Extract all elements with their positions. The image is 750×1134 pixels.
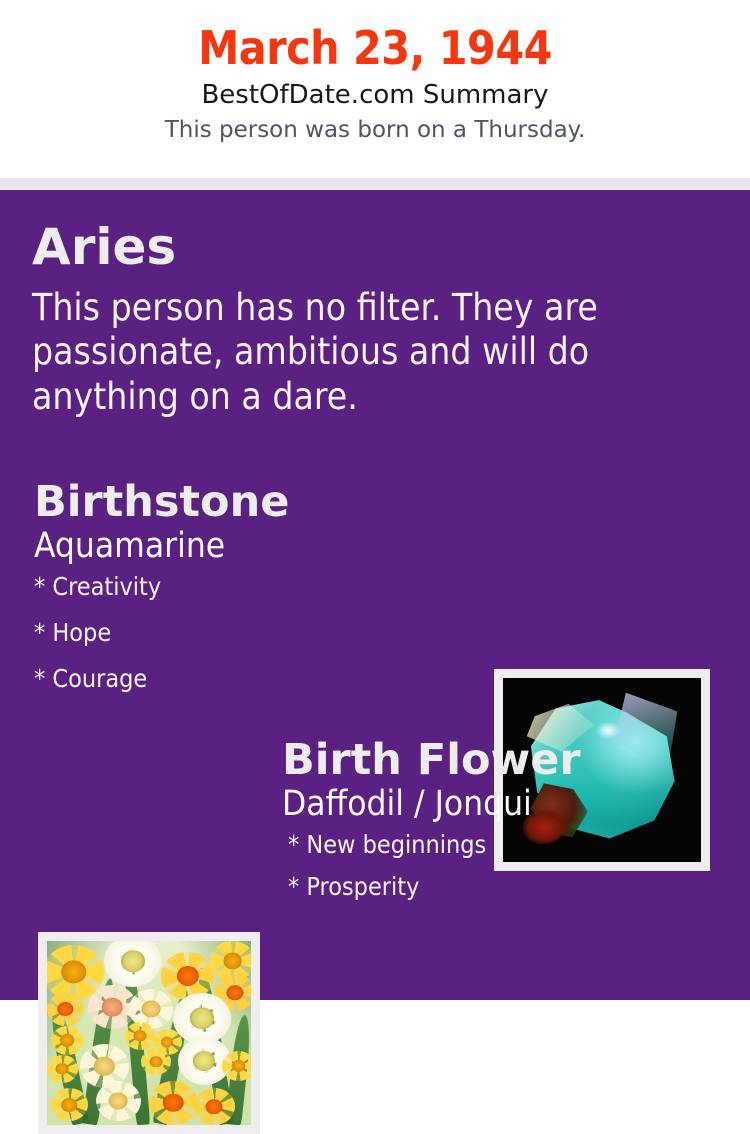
birth-flower-section: Birth Flower Daffodil / Jonqui * New beg…: [282, 738, 722, 916]
weekday-statement: This person was born on a Thursday.: [0, 117, 750, 143]
birthstone-name: Aquamarine: [34, 527, 464, 566]
birth-flower-image: [47, 941, 251, 1125]
summary-card: March 23, 1944 BestOfDate.com Summary Th…: [0, 0, 750, 1000]
list-item: * Creativity: [34, 574, 464, 599]
daffodil-bloom-icon: [96, 1081, 141, 1121]
zodiac-section: Aries This person has no filter. They ar…: [32, 222, 662, 419]
daffodil-bloom-icon: [104, 941, 161, 987]
list-item: * Courage: [34, 666, 464, 691]
daffodil-bloom-icon: [47, 993, 84, 1026]
card-header: March 23, 1944 BestOfDate.com Summary Th…: [0, 0, 750, 178]
header-divider: [0, 178, 750, 190]
content-panel: Aries This person has no filter. They ar…: [0, 190, 750, 1000]
zodiac-sign-name: Aries: [32, 222, 662, 272]
site-summary-label: BestOfDate.com Summary: [0, 81, 750, 111]
birth-flower-heading: Birth Flower: [282, 738, 722, 783]
birth-flower-trait-list: * New beginnings * Prosperity: [282, 832, 722, 899]
daffodil-bloom-icon: [149, 1081, 198, 1125]
birthstone-heading: Birthstone: [34, 480, 464, 525]
daffodil-bloom-icon: [51, 1088, 88, 1121]
list-item: * New beginnings: [288, 832, 722, 857]
zodiac-description: This person has no filter. They are pass…: [32, 286, 652, 419]
daffodil-bloom-icon: [51, 1026, 84, 1055]
daffodil-bloom-icon: [47, 1055, 78, 1083]
birthstone-trait-list: * Creativity * Hope * Courage: [34, 574, 464, 691]
birthstone-section: Birthstone Aquamarine * Creativity * Hop…: [34, 480, 464, 712]
birth-flower-name: Daffodil / Jonqui: [282, 785, 722, 824]
daffodil-bloom-icon: [125, 1022, 156, 1050]
list-item: * Hope: [34, 620, 464, 645]
crystal-highlight-icon: [596, 722, 620, 739]
page-title-date: March 23, 1944: [0, 24, 750, 72]
daffodil-field-icon: [47, 941, 251, 1125]
daffodil-bloom-icon: [222, 1051, 251, 1080]
daffodil-bloom-icon: [194, 1088, 235, 1125]
list-item: * Prosperity: [288, 874, 722, 899]
birth-flower-image-frame: [38, 932, 260, 1134]
